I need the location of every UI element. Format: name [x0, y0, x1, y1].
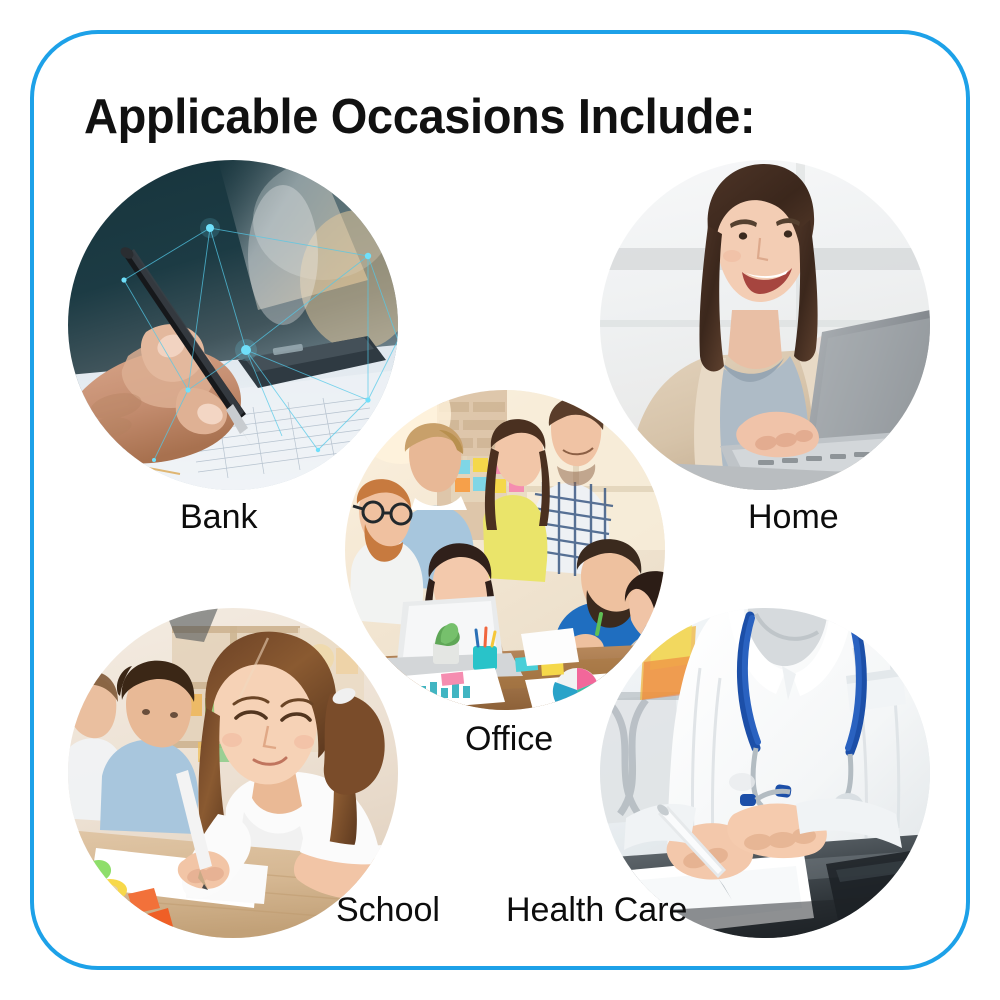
- school-illustration: [68, 608, 398, 938]
- page-title: Applicable Occasions Include:: [84, 93, 755, 142]
- bank-illustration: [68, 160, 398, 490]
- occasion-photo-home: [600, 160, 930, 490]
- poster-canvas: Applicable Occasions Include:: [0, 0, 1000, 1000]
- occasion-photo-health-care: [600, 608, 930, 938]
- occasion-label-office: Office: [465, 722, 553, 756]
- occasion-photo-school: [68, 608, 398, 938]
- office-illustration: [345, 390, 665, 710]
- occasion-photo-bank: [68, 160, 398, 490]
- occasion-photo-office: [345, 390, 665, 710]
- health-care-illustration: [600, 608, 930, 938]
- occasion-label-health-care: Health Care: [506, 893, 687, 927]
- occasion-label-school: School: [336, 893, 440, 927]
- home-illustration: [600, 160, 930, 490]
- occasion-label-bank: Bank: [180, 500, 258, 534]
- occasion-label-home: Home: [748, 500, 839, 534]
